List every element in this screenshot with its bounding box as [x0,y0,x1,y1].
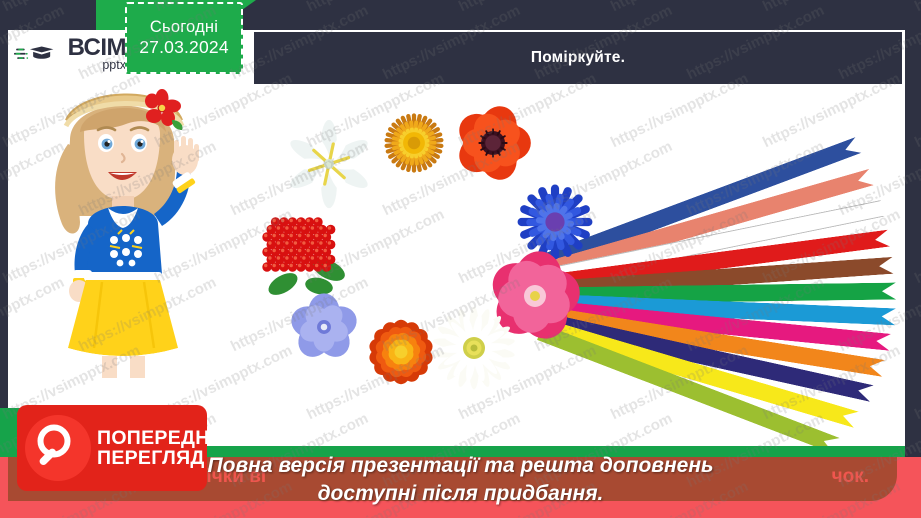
today-label: Сьогодні [150,17,218,38]
logo-brand-text: ВСІМ [68,36,126,60]
daisy-flower [430,304,518,392]
logo-sub-text: pptx [68,59,126,72]
slide-title-bar: Поміркуйте. [254,32,902,84]
watermark-text: https://vsimpptx.com [456,0,599,15]
graduation-cap-icon [14,34,74,74]
page-title: Поміркуйте. [531,49,625,67]
watermark-text: https://vsimpptx.com [608,0,751,15]
presentation-slide: ВСІМ pptx Сьогодні 27.03.2024 Поміркуйте… [0,0,921,518]
magnifier-icon [25,415,91,481]
today-date-badge: Сьогодні 27.03.2024 [125,2,243,74]
flowers-and-ribbons-stage [245,86,905,446]
watermark-text: https://vsimpptx.com [304,0,447,15]
watermark-text: https://vsimpptx.com [912,0,921,15]
preview-badge[interactable]: ПОПЕРЕДНІЙ ПЕРЕГЛЯД [17,405,207,491]
watermark-text: https://vsimpptx.com [912,342,921,423]
watermark-text: https://vsimpptx.com [760,0,903,15]
ukrainian-girl-waving [22,48,232,383]
periwinkle-flower [283,286,365,368]
lily-flower [283,118,375,210]
flower-layer [245,86,905,446]
banner-hidden-text-right: чок. [832,466,869,488]
preview-badge-line-1: ПОПЕРЕДНІЙ [97,428,230,448]
watermark-text: https://vsimpptx.com [912,70,921,151]
preview-badge-line-2: ПЕРЕГЛЯД [97,448,230,468]
today-date: 27.03.2024 [139,37,229,59]
vsim-pptx-logo[interactable]: ВСІМ pptx [8,30,126,78]
immortelle-flower [375,104,453,182]
watermark-text: https://vsimpptx.com [912,206,921,287]
